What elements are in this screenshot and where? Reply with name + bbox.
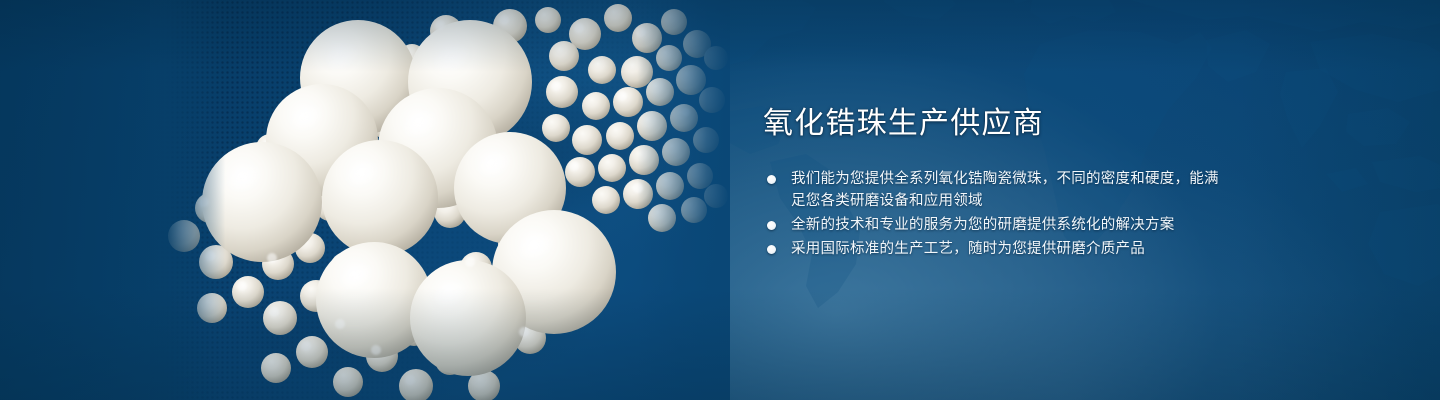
list-item: 采用国际标准的生产工艺，随时为您提供研磨介质产品 (763, 238, 1233, 260)
list-item-label: 我们能为您提供全系列氧化锆陶瓷微珠，不同的密度和硬度，能满足您各类研磨设备和应用… (791, 168, 1233, 212)
list-item-label: 全新的技术和专业的服务为您的研磨提供系统化的解决方案 (791, 214, 1233, 236)
banner-copy: 氧化锆珠生产供应商 我们能为您提供全系列氧化锆陶瓷微珠，不同的密度和硬度，能满足… (763, 104, 1233, 262)
list-item: 我们能为您提供全系列氧化锆陶瓷微珠，不同的密度和硬度，能满足您各类研磨设备和应用… (763, 168, 1233, 212)
circle-bullet-icon (767, 221, 776, 230)
circle-bullet-icon (767, 245, 776, 254)
hero-banner: 氧化锆珠生产供应商 我们能为您提供全系列氧化锆陶瓷微珠，不同的密度和硬度，能满足… (0, 0, 1440, 400)
list-item-label: 采用国际标准的生产工艺，随时为您提供研磨介质产品 (791, 238, 1233, 260)
list-item: 全新的技术和专业的服务为您的研磨提供系统化的解决方案 (763, 214, 1233, 236)
feature-list: 我们能为您提供全系列氧化锆陶瓷微珠，不同的密度和硬度，能满足您各类研磨设备和应用… (763, 168, 1233, 260)
circle-bullet-icon (767, 175, 776, 184)
page-title: 氧化锆珠生产供应商 (763, 104, 1233, 144)
